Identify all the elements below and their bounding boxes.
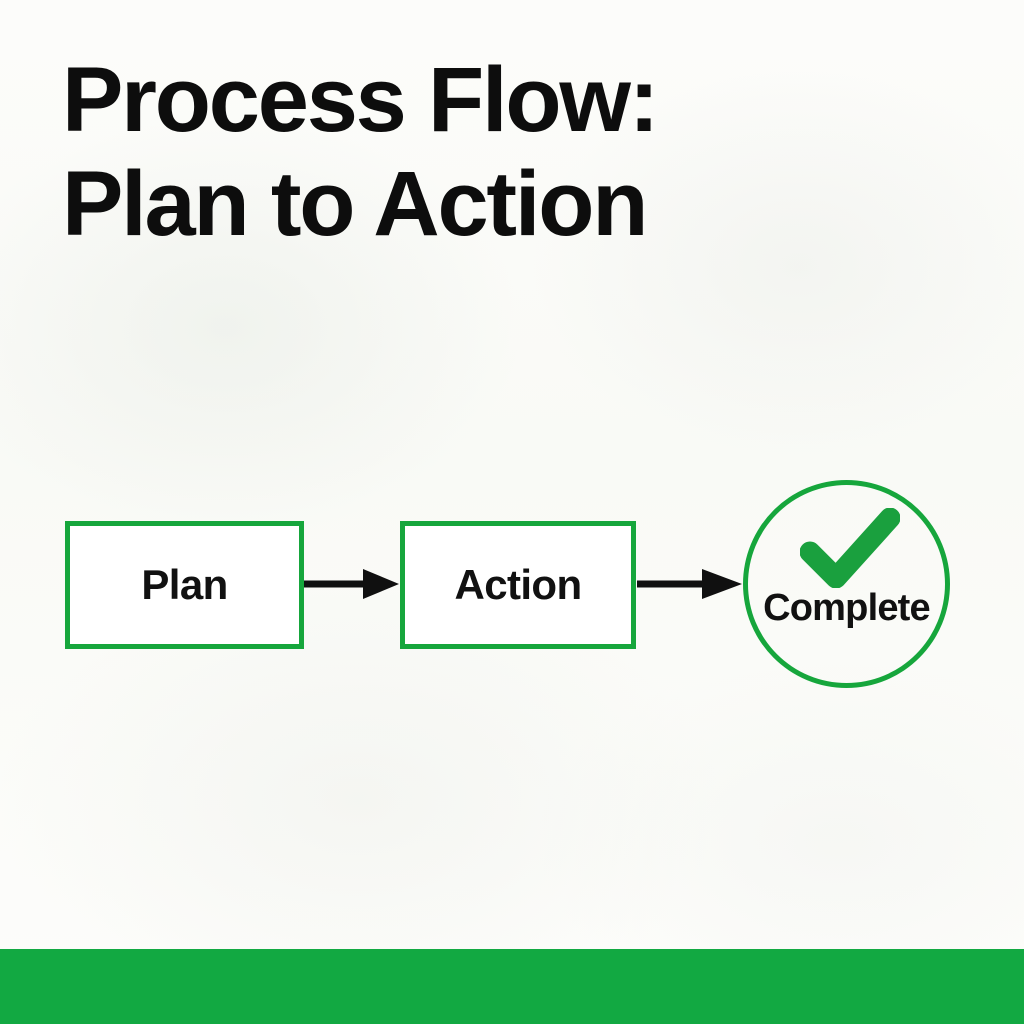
diagram-canvas: Process Flow: Plan to Action Plan Action… bbox=[0, 0, 1024, 1024]
connector-action-to-complete[interactable] bbox=[637, 569, 742, 599]
flow-node-plan[interactable]: Plan bbox=[65, 521, 304, 649]
check-icon bbox=[800, 508, 900, 588]
flow-node-action[interactable]: Action bbox=[400, 521, 636, 649]
title-line-1: Process Flow: bbox=[62, 48, 862, 152]
title-line-2: Plan to Action bbox=[62, 152, 862, 256]
footer-accent-bar bbox=[0, 949, 1024, 1024]
flow-node-complete-label: Complete bbox=[743, 587, 950, 630]
page-title: Process Flow: Plan to Action bbox=[62, 48, 862, 256]
flow-node-action-label: Action bbox=[454, 561, 581, 609]
connector-plan-to-action[interactable] bbox=[304, 569, 399, 599]
flow-node-plan-label: Plan bbox=[141, 561, 227, 609]
